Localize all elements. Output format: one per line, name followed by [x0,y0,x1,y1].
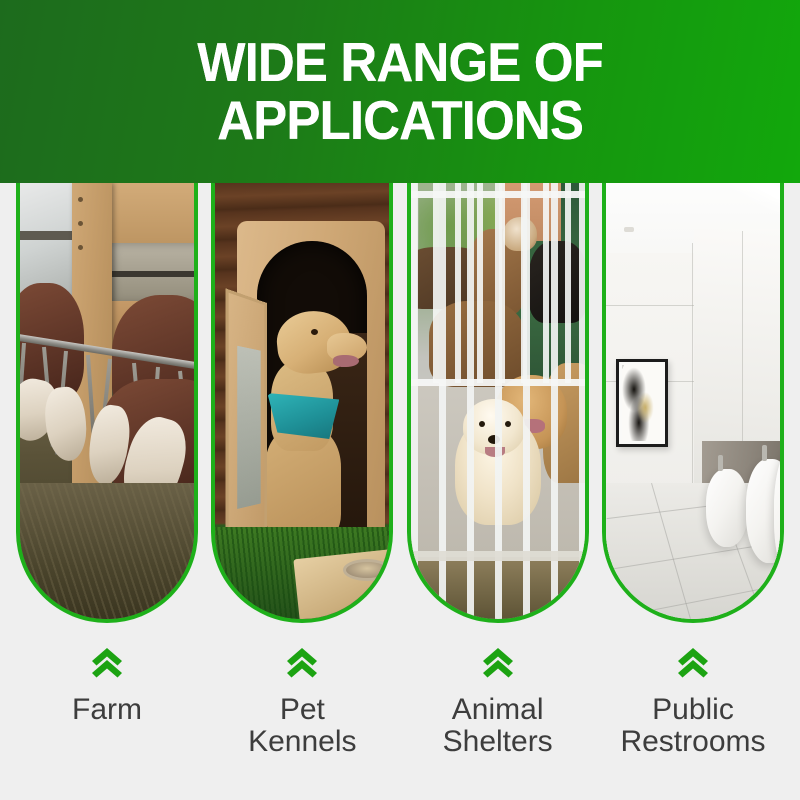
page-title-line-1: WIDE RANGE OF [197,34,603,92]
application-card-animal-shelters[interactable] [407,183,589,623]
header-banner: WIDE RANGE OF APPLICATIONS [0,0,800,183]
urinal-flush-2 [762,445,767,461]
feeding-station [294,547,390,619]
card-label-farm: Farm [16,694,198,780]
double-chevron-up-icon [481,646,515,678]
chevron-row [0,640,800,684]
page-title-line-2: APPLICATIONS [197,92,603,150]
shelter-fence-rail-mid [411,379,585,386]
chevron-cell-pet-kennels [211,640,393,684]
animal-shelter-photo [411,183,585,619]
tile-seam-h1 [606,305,694,306]
double-chevron-up-icon [676,646,710,678]
card-label-pet-kennels: Pet Kennels [211,694,393,780]
farm-photo [20,183,194,619]
shelter-fence-rail-top [411,191,585,198]
dog-bandana [267,393,339,439]
urinal-1 [706,469,748,547]
application-card-pet-kennels[interactable] [211,183,393,623]
card-label-public-restrooms: Public Restrooms [602,694,784,780]
hay-bedding [20,483,194,619]
card-label-public-restrooms-line2: Restrooms [602,726,784,758]
card-label-pet-kennels-line2: Kennels [211,726,393,758]
chevron-cell-animal-shelters [407,640,589,684]
card-label-animal-shelters: Animal Shelters [407,694,589,780]
card-label-public-restrooms-line1: Public [652,693,734,726]
tile-seam-v1 [692,243,693,493]
chevron-cell-farm [16,640,198,684]
double-chevron-up-icon [285,646,319,678]
card-label-farm-line1: Farm [72,693,142,726]
urinal-flush-1 [718,455,723,471]
application-card-public-restrooms[interactable] [602,183,784,623]
chevron-cell-public-restrooms [602,640,784,684]
artwork-canvas [622,365,662,441]
card-label-animal-shelters-line2: Shelters [407,726,589,758]
kennel-door [226,288,268,558]
public-restroom-photo [606,183,780,619]
shelter-fence-rail-bottom [411,551,585,561]
label-row: Farm Pet Kennels Animal Shelters Public … [0,694,800,780]
application-cards [0,183,800,623]
framed-artwork [616,359,668,447]
double-chevron-up-icon [90,646,124,678]
page-title: WIDE RANGE OF APPLICATIONS [197,34,603,150]
pet-kennel-photo [215,183,389,619]
kennel-door-glass [238,346,261,509]
application-card-farm[interactable] [16,183,198,623]
card-label-animal-shelters-line1: Animal [452,693,544,726]
barn-beam [108,183,194,251]
card-label-pet-kennels-line1: Pet [280,693,325,726]
barn-crossbar [108,271,194,277]
food-bowl [343,559,389,581]
ceiling-downlight-icon [624,227,634,232]
